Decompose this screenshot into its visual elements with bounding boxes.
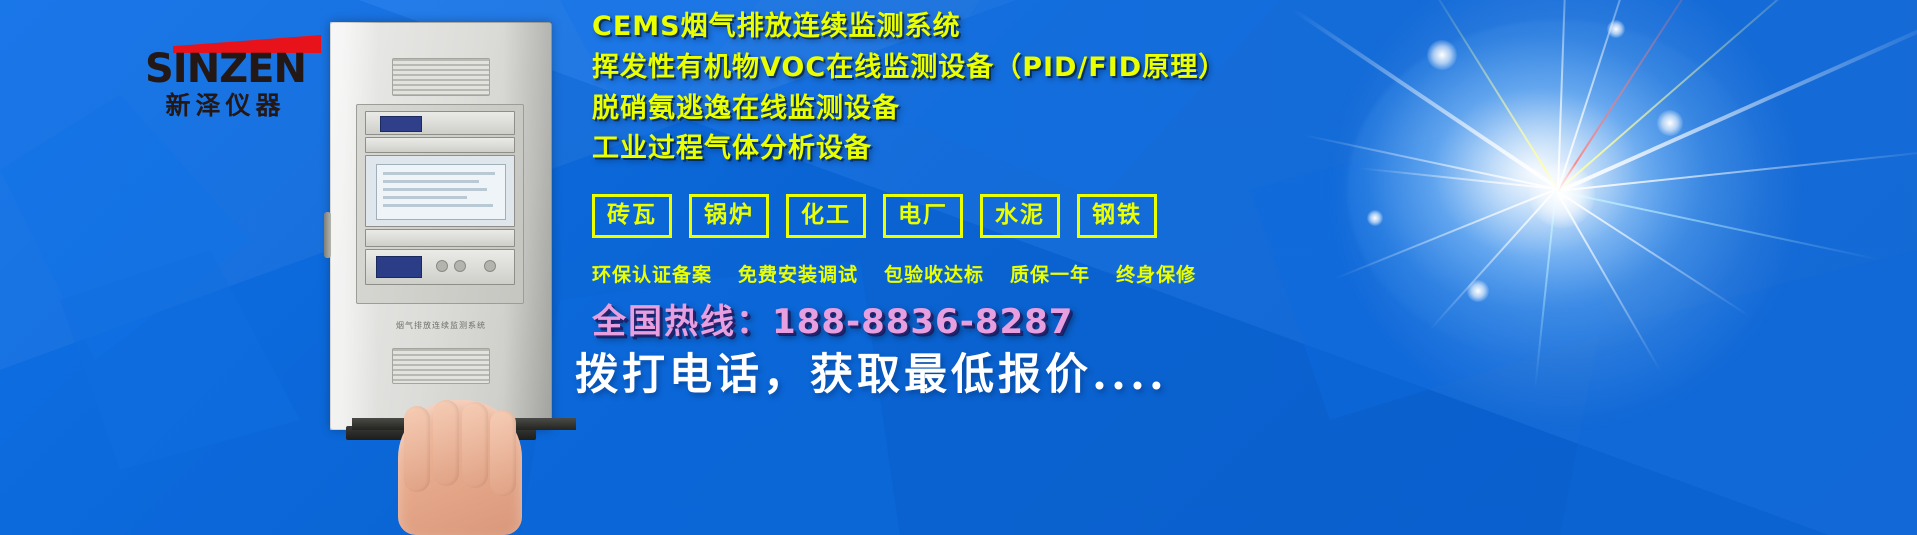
hotline-number[interactable]: 188-8836-8287 (772, 302, 1073, 342)
industry-tag-list: 砖瓦 锅炉 化工 电厂 水泥 钢铁 (592, 194, 1157, 238)
cabinet-door-handle (324, 212, 331, 258)
industry-tag-chemical[interactable]: 化工 (786, 194, 866, 238)
headline-2: 挥发性有机物VOC在线监测设备（PID/FID原理） (592, 45, 1226, 84)
hotline[interactable]: 全国热线：188-8836-8287 (592, 294, 1073, 343)
headline-4: 工业过程气体分析设备 (592, 126, 872, 165)
hand-photo (398, 400, 522, 535)
cabinet-caption: 烟气排放连续监测系统 (330, 320, 552, 331)
cta-text: 拨打电话，获取最低报价.... (575, 340, 1168, 402)
benefit-item-lifetime-repair: 终身保修 (1116, 260, 1196, 287)
benefit-item-warranty-year: 质保一年 (1010, 260, 1090, 287)
headline-1: CEMS烟气排放连续监测系统 (592, 4, 961, 43)
cabinet-vent-top (392, 58, 490, 96)
industry-tag-cement[interactable]: 水泥 (980, 194, 1060, 238)
industry-tag-power-plant[interactable]: 电厂 (883, 194, 963, 238)
industry-tag-boiler[interactable]: 锅炉 (689, 194, 769, 238)
headline-3: 脱硝氨逃逸在线监测设备 (592, 86, 900, 125)
logo-wordmark: SINZEN (133, 49, 318, 89)
promo-banner: SINZEN 新泽仪器 (0, 0, 1917, 535)
product-cabinet-image: 烟气排放连续监测系统 (330, 22, 552, 430)
benefit-item-certification: 环保认证备案 (592, 260, 712, 287)
benefit-list: 环保认证备案 免费安装调试 包验收达标 质保一年 终身保修 (592, 260, 1196, 287)
logo-chinese-name: 新泽仪器 (133, 92, 318, 120)
cabinet-instrument-panel (356, 104, 524, 304)
industry-tag-brick[interactable]: 砖瓦 (592, 194, 672, 238)
hotline-label: 全国热线： (592, 302, 772, 342)
promo-copy: CEMS烟气排放连续监测系统 挥发性有机物VOC在线监测设备（PID/FID原理… (592, 0, 1912, 535)
company-logo: SINZEN 新泽仪器 (133, 32, 318, 120)
benefit-item-acceptance: 包验收达标 (884, 260, 984, 287)
benefit-item-free-install: 免费安装调试 (738, 260, 858, 287)
cabinet-vent-bottom (392, 348, 490, 384)
industry-tag-steel[interactable]: 钢铁 (1077, 194, 1157, 238)
